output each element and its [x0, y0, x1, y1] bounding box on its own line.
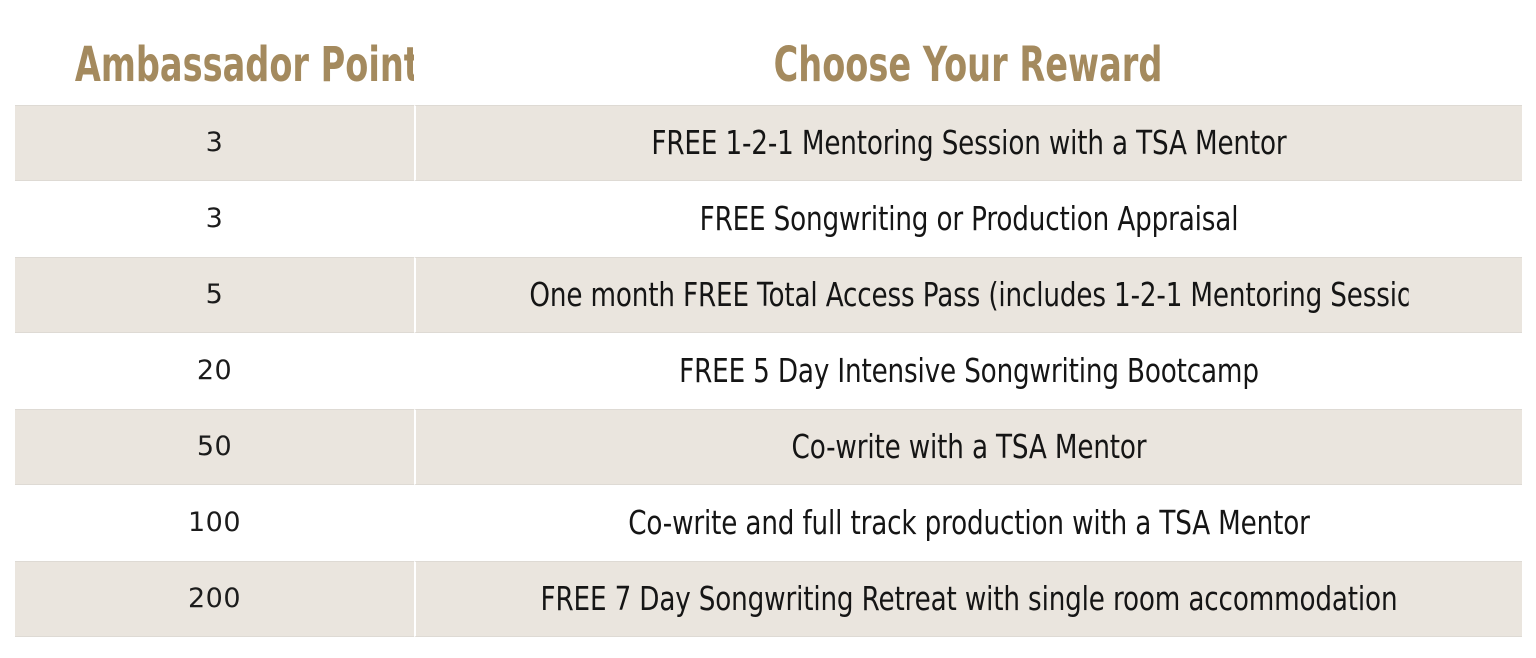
- points-value: 5: [15, 258, 414, 332]
- points-value: 100: [15, 486, 414, 560]
- reward-value: FREE 7 Day Songwriting Retreat with sing…: [529, 562, 1408, 636]
- points-cell: 5: [15, 257, 414, 333]
- points-cell: 200: [15, 561, 414, 637]
- points-value: 3: [15, 106, 414, 180]
- reward-cell: FREE Songwriting or Production Appraisal: [414, 181, 1522, 257]
- reward-value: FREE 1-2-1 Mentoring Session with a TSA …: [529, 106, 1408, 180]
- table-row: 200 FREE 7 Day Songwriting Retreat with …: [15, 561, 1522, 637]
- table-row: 3 FREE 1-2-1 Mentoring Session with a TS…: [15, 105, 1522, 181]
- reward-cell: FREE 1-2-1 Mentoring Session with a TSA …: [414, 105, 1522, 181]
- table-header-row: Ambassador Points Choose Your Reward: [15, 26, 1522, 105]
- table-row: 100 Co-write and full track production w…: [15, 485, 1522, 561]
- column-header-choose-your-reward: Choose Your Reward: [414, 26, 1522, 105]
- table-row: 3 FREE Songwriting or Production Apprais…: [15, 181, 1522, 257]
- points-cell: 50: [15, 409, 414, 485]
- reward-value: Co-write with a TSA Mentor: [529, 410, 1408, 484]
- table-row: 5 One month FREE Total Access Pass (incl…: [15, 257, 1522, 333]
- column-header-choose-your-reward-label: Choose Your Reward: [580, 26, 1356, 105]
- table-row: 20 FREE 5 Day Intensive Songwriting Boot…: [15, 333, 1522, 409]
- table-header: Ambassador Points Choose Your Reward: [15, 26, 1522, 105]
- points-value: 50: [15, 410, 414, 484]
- reward-cell: One month FREE Total Access Pass (includ…: [414, 257, 1522, 333]
- reward-value: FREE 5 Day Intensive Songwriting Bootcam…: [529, 334, 1408, 408]
- reward-cell: FREE 7 Day Songwriting Retreat with sing…: [414, 561, 1522, 637]
- column-header-ambassador-points-label: Ambassador Points: [75, 26, 354, 105]
- points-value: 3: [15, 182, 414, 256]
- points-cell: 100: [15, 485, 414, 561]
- reward-value: FREE Songwriting or Production Appraisal: [529, 182, 1408, 256]
- reward-cell: Co-write and full track production with …: [414, 485, 1522, 561]
- points-value: 20: [15, 334, 414, 408]
- points-cell: 20: [15, 333, 414, 409]
- rewards-page: Ambassador Points Choose Your Reward 3 F…: [0, 0, 1536, 658]
- reward-value: Co-write and full track production with …: [529, 486, 1408, 560]
- points-cell: 3: [15, 181, 414, 257]
- points-value: 200: [15, 562, 414, 636]
- ambassador-rewards-table: Ambassador Points Choose Your Reward 3 F…: [15, 26, 1522, 637]
- table-row: 50 Co-write with a TSA Mentor: [15, 409, 1522, 485]
- reward-cell: FREE 5 Day Intensive Songwriting Bootcam…: [414, 333, 1522, 409]
- table-body: 3 FREE 1-2-1 Mentoring Session with a TS…: [15, 105, 1522, 637]
- points-cell: 3: [15, 105, 414, 181]
- reward-cell: Co-write with a TSA Mentor: [414, 409, 1522, 485]
- column-header-ambassador-points: Ambassador Points: [15, 26, 414, 105]
- reward-value: One month FREE Total Access Pass (includ…: [529, 258, 1408, 332]
